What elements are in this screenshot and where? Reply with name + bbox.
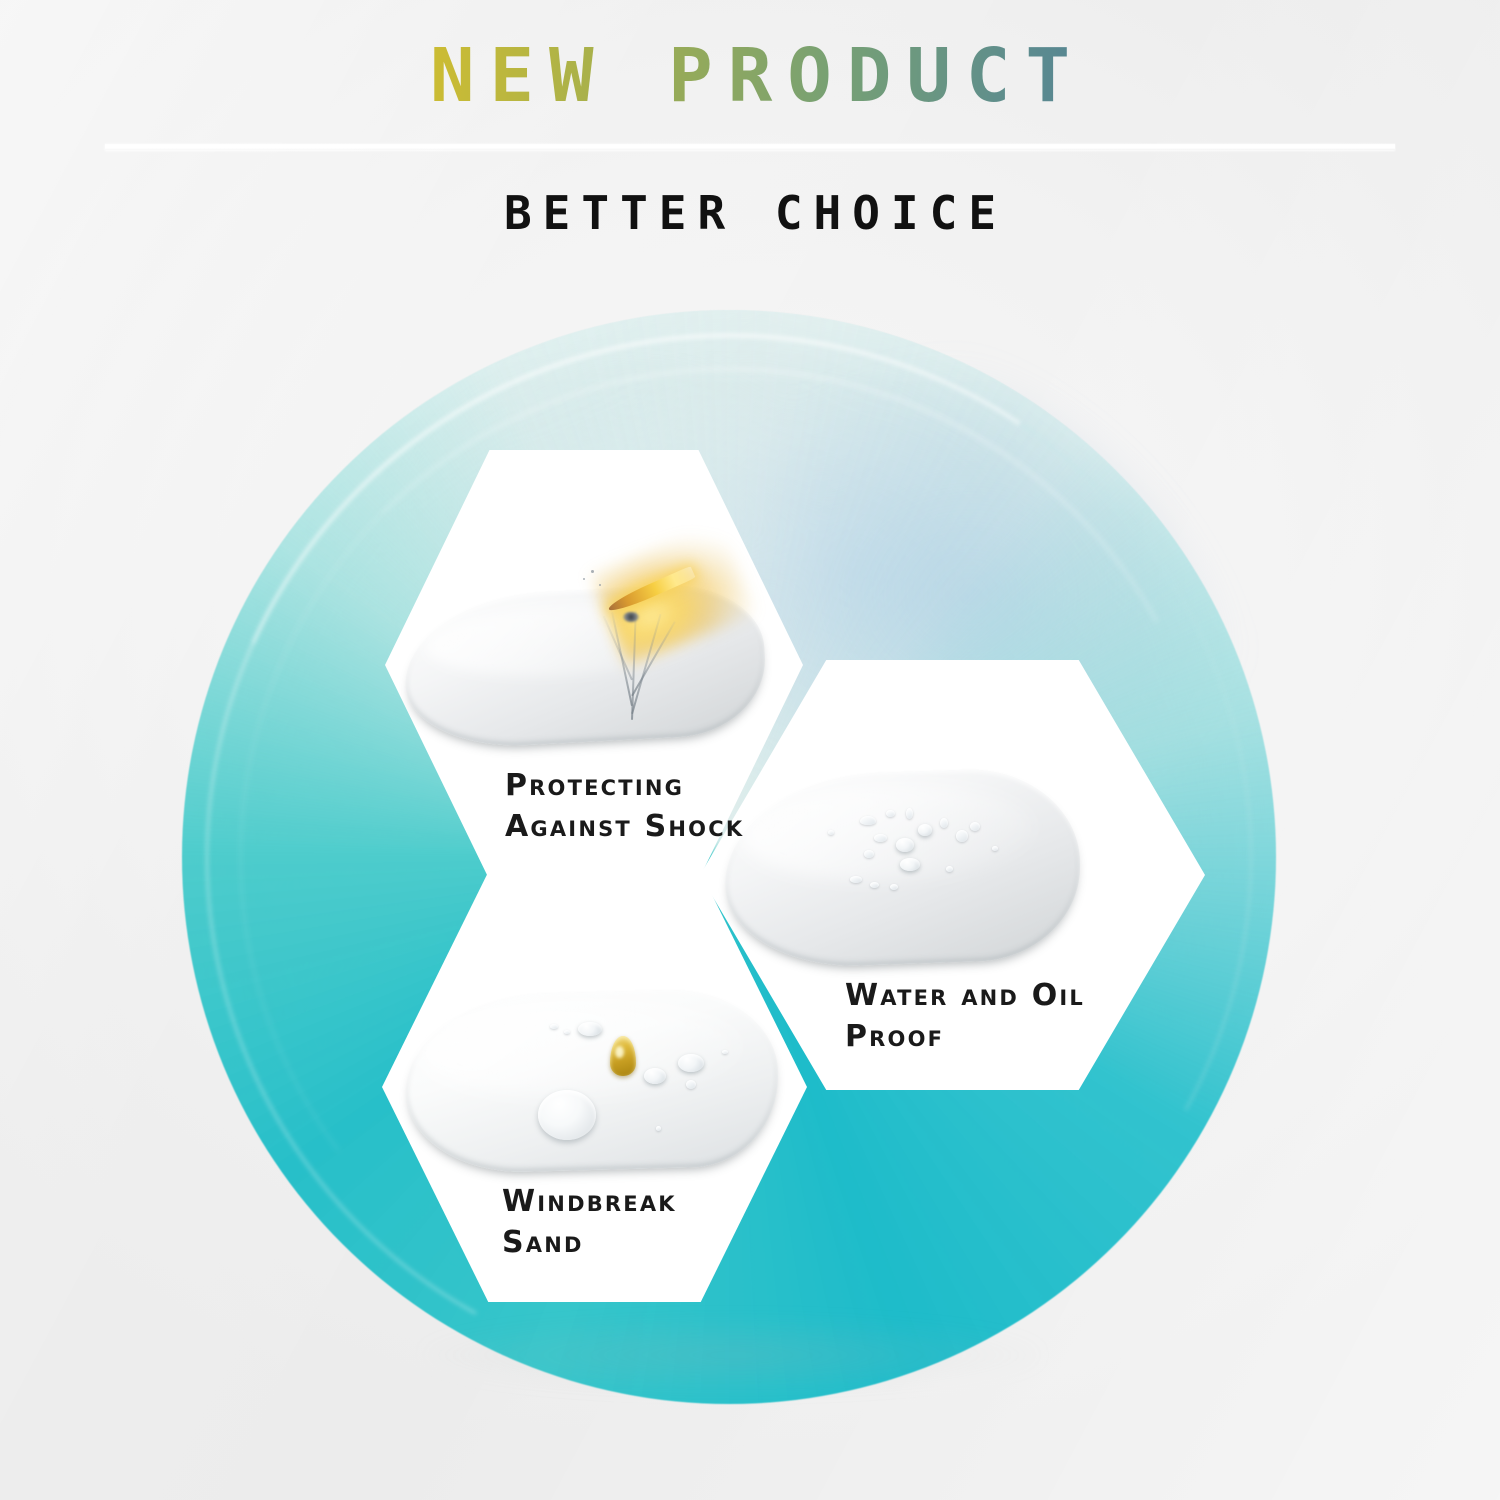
- water-droplet: [656, 1126, 661, 1131]
- water-droplet: [864, 850, 874, 858]
- debris-particle: [591, 570, 594, 573]
- water-droplet: [946, 866, 953, 872]
- water-droplet: [970, 822, 980, 831]
- water-droplet: [874, 834, 887, 842]
- water-bead: [896, 838, 914, 852]
- water-bead: [644, 1068, 666, 1084]
- bubble-shadow: [422, 1320, 1042, 1390]
- water-droplet: [956, 830, 968, 842]
- water-bead: [678, 1054, 704, 1072]
- water-droplet: [860, 816, 876, 825]
- water-droplet: [870, 882, 879, 888]
- debris-particle: [599, 584, 601, 586]
- header-block: NEW PRODUCT: [0, 0, 1500, 116]
- lens-image-shock: [401, 581, 768, 752]
- feature-caption-water-and-oil-proof: Water and Oil Proof: [845, 976, 1165, 1057]
- lens-image-wind: [404, 987, 781, 1175]
- water-bead: [578, 1022, 602, 1036]
- water-droplet: [550, 1024, 558, 1029]
- title-divider: [105, 143, 1395, 150]
- water-droplet: [992, 846, 998, 851]
- product-poster: NEW PRODUCT BETTER CHOICE Protecting Aga…: [0, 0, 1500, 1500]
- water-droplet: [886, 810, 895, 817]
- water-droplet: [940, 818, 948, 828]
- debris-particle: [583, 578, 585, 580]
- water-droplet: [564, 1030, 570, 1034]
- page-title: NEW PRODUCT: [0, 0, 1500, 116]
- water-bead: [900, 858, 920, 871]
- feature-caption-windbreak-sand: Windbreak Sand: [502, 1182, 822, 1263]
- water-droplet: [722, 1050, 728, 1054]
- water-droplet: [906, 808, 913, 819]
- water-droplet: [850, 876, 862, 883]
- water-droplet: [828, 830, 834, 835]
- feature-caption-protecting-against-shock: Protecting Against Shock: [505, 766, 805, 847]
- water-droplet: [686, 1080, 696, 1089]
- water-droplet: [890, 884, 898, 890]
- water-bead: [918, 824, 932, 836]
- page-subtitle: BETTER CHOICE: [0, 186, 1500, 240]
- large-water-bead: [538, 1090, 596, 1140]
